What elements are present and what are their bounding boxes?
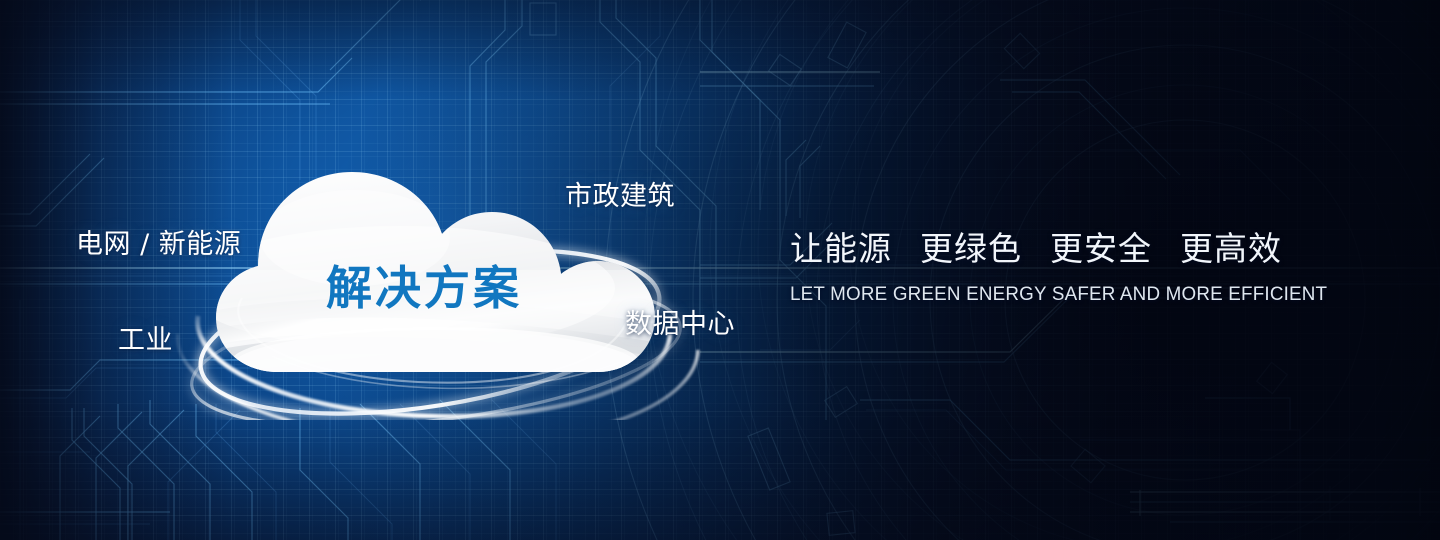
headline-block: 让能源更绿色更安全更高效 LET MORE GREEN ENERGY SAFER… <box>790 222 1350 306</box>
headline-part-3: 更安全 <box>1050 229 1152 268</box>
headline-subtitle: LET MORE GREEN ENERGY SAFER AND MORE EFF… <box>790 283 1330 306</box>
solution-banner: 解决方案 电网 / 新能源 工业 市政建筑 数据中心 让能源更绿色更安全更高效 … <box>0 0 1440 540</box>
label-industry: 工业 <box>118 318 173 357</box>
label-data-center: 数据中心 <box>625 302 735 341</box>
headline-part-4: 更高效 <box>1180 229 1282 268</box>
label-municipal: 市政建筑 <box>565 174 675 213</box>
cloud-title: 解决方案 <box>326 252 522 318</box>
headline: 让能源更绿色更安全更高效 <box>790 222 1350 270</box>
headline-part-2: 更绿色 <box>920 229 1022 268</box>
headline-part-1: 让能源 <box>790 229 892 268</box>
label-grid-new-energy: 电网 / 新能源 <box>76 222 241 261</box>
